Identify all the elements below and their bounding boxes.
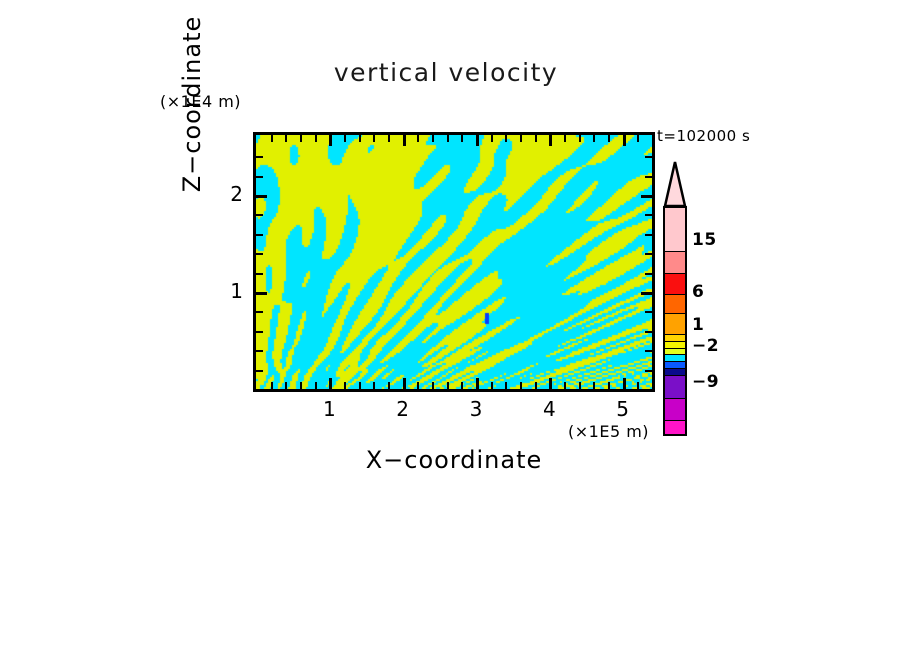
y-axis-minor-tick-right	[645, 273, 652, 275]
x-axis-minor-tick-top	[344, 135, 346, 142]
colorbar-tick-label: 6	[692, 282, 704, 302]
x-axis-minor-tick-top	[271, 135, 273, 142]
y-axis-minor-tick-right	[645, 253, 652, 255]
x-axis-minor-tick-top	[505, 135, 507, 142]
x-tick-label: 5	[603, 397, 643, 421]
y-axis-minor-tick	[256, 350, 263, 352]
x-axis-minor-tick-top	[285, 135, 287, 142]
y-tick-label: 1	[203, 279, 243, 303]
colorbar-band	[665, 274, 685, 295]
x-axis-major-tick	[476, 378, 479, 389]
x-axis-minor-tick-top	[417, 135, 419, 142]
colorbar-band	[665, 355, 685, 362]
x-axis-minor-tick-top	[637, 135, 639, 142]
y-axis-minor-tick	[256, 273, 263, 275]
x-axis-minor-tick	[564, 382, 566, 389]
x-axis-minor-tick-top	[388, 135, 390, 142]
y-axis-minor-tick	[256, 176, 263, 178]
x-axis-minor-tick-top	[359, 135, 361, 142]
y-axis-minor-tick-right	[645, 234, 652, 236]
x-axis-minor-tick	[491, 382, 493, 389]
y-tick-label: 2	[203, 182, 243, 206]
x-axis-minor-tick-top	[579, 135, 581, 142]
x-axis-minor-tick	[388, 382, 390, 389]
y-axis-minor-tick-right	[645, 156, 652, 158]
x-axis-minor-tick	[637, 382, 639, 389]
y-axis-minor-tick-right	[645, 370, 652, 372]
colorbar-band	[665, 421, 685, 434]
y-axis-major-tick-right	[641, 195, 652, 198]
chart-title-text: vertical velocity	[334, 58, 558, 87]
colorbar-band	[665, 295, 685, 314]
y-axis-minor-tick-right	[645, 176, 652, 178]
plot-area	[253, 132, 655, 392]
x-axis-minor-tick	[593, 382, 595, 389]
colorbar-band	[665, 208, 685, 252]
x-axis-minor-tick-top	[461, 135, 463, 142]
timestamp-label: t=102000 s	[657, 127, 750, 145]
colorbar-band	[665, 252, 685, 274]
x-axis-minor-tick	[300, 382, 302, 389]
x-axis-major-tick	[623, 378, 626, 389]
colorbar-tick-label: 1	[692, 315, 704, 335]
x-axis-minor-tick-top	[491, 135, 493, 142]
x-axis-minor-tick-top	[520, 135, 522, 142]
chart-title: vertical velocity	[0, 58, 904, 87]
x-axis-minor-tick-top	[447, 135, 449, 142]
x-axis-minor-tick-top	[564, 135, 566, 142]
x-axis-minor-tick	[520, 382, 522, 389]
colorbar-band	[665, 342, 685, 349]
colorbar-band	[665, 369, 685, 376]
colorbar-arrow-tip-icon	[663, 160, 687, 208]
x-axis-minor-tick	[447, 382, 449, 389]
x-axis-major-tick	[549, 378, 552, 389]
y-axis-minor-tick	[256, 253, 263, 255]
y-axis-major-tick	[256, 292, 267, 295]
x-axis-minor-tick	[285, 382, 287, 389]
x-axis-minor-tick-top	[535, 135, 537, 142]
y-axis-minor-tick	[256, 311, 263, 313]
x-axis-unit-label: (×1E5 m)	[568, 422, 649, 441]
colorbar-tick-label: 15	[692, 230, 717, 250]
y-axis-minor-tick	[256, 214, 263, 216]
x-axis-minor-tick	[579, 382, 581, 389]
x-axis-minor-tick-top	[432, 135, 434, 142]
y-axis-major-tick	[256, 195, 267, 198]
x-axis-minor-tick	[608, 382, 610, 389]
x-axis-major-tick	[329, 378, 332, 389]
x-tick-label: 2	[383, 397, 423, 421]
y-axis-title: Z−coordinate	[178, 0, 206, 219]
y-axis-minor-tick	[256, 331, 263, 333]
y-axis-minor-tick-right	[645, 214, 652, 216]
colorbar-band	[665, 362, 685, 369]
y-axis-minor-tick-right	[645, 350, 652, 352]
velocity-field-heatmap	[256, 135, 652, 389]
x-axis-major-tick-top	[329, 135, 332, 146]
x-axis-minor-tick	[432, 382, 434, 389]
x-axis-major-tick-top	[623, 135, 626, 146]
x-tick-label: 4	[529, 397, 569, 421]
y-axis-minor-tick-right	[645, 311, 652, 313]
x-axis-minor-tick	[505, 382, 507, 389]
x-axis-title: X−coordinate	[253, 446, 655, 474]
x-axis-major-tick-top	[403, 135, 406, 146]
x-axis-major-tick	[403, 378, 406, 389]
y-axis-minor-tick	[256, 370, 263, 372]
x-axis-minor-tick	[461, 382, 463, 389]
colorbar-band	[665, 335, 685, 342]
colorbar-band	[665, 399, 685, 421]
x-axis-minor-tick	[535, 382, 537, 389]
x-axis-minor-tick	[417, 382, 419, 389]
colorbar-band	[665, 376, 685, 399]
x-axis-minor-tick-top	[593, 135, 595, 142]
x-axis-minor-tick-top	[315, 135, 317, 142]
x-axis-minor-tick	[271, 382, 273, 389]
y-axis-minor-tick-right	[645, 331, 652, 333]
colorbar-tick-label: −2	[692, 336, 719, 356]
x-tick-label: 3	[456, 397, 496, 421]
x-axis-minor-tick	[359, 382, 361, 389]
x-tick-label: 1	[309, 397, 349, 421]
x-axis-minor-tick-top	[373, 135, 375, 142]
y-axis-major-tick-right	[641, 292, 652, 295]
x-axis-major-tick-top	[549, 135, 552, 146]
x-axis-minor-tick-top	[608, 135, 610, 142]
x-axis-major-tick-top	[476, 135, 479, 146]
x-axis-minor-tick-top	[300, 135, 302, 142]
colorbar-tick-label: −9	[692, 372, 719, 392]
colorbar-band	[665, 314, 685, 335]
x-axis-minor-tick	[373, 382, 375, 389]
x-axis-minor-tick	[315, 382, 317, 389]
x-axis-minor-tick	[344, 382, 346, 389]
y-axis-minor-tick	[256, 156, 263, 158]
colorbar-band-stack	[663, 206, 687, 436]
y-axis-minor-tick	[256, 234, 263, 236]
